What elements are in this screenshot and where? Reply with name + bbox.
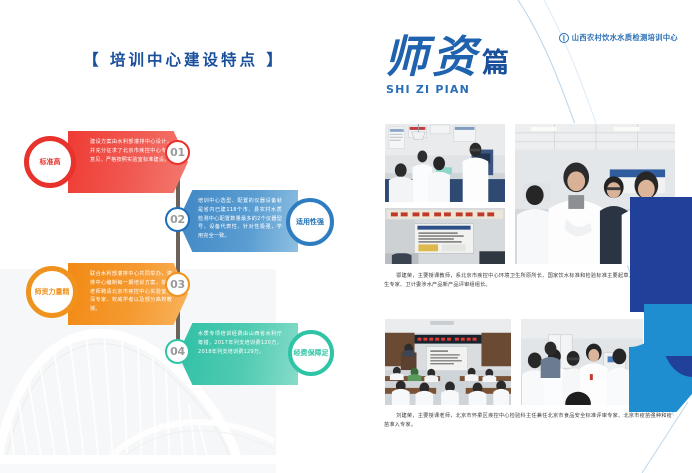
brochure-page: 【 培训中心建设特点 】 建设方案由水利部灌排中心设计，并充分征求了北京市疾控中… <box>0 0 692 473</box>
section-title-pinyin: SHI ZI PIAN <box>386 83 510 96</box>
feature-badge-03: 师资力量精 <box>26 266 78 318</box>
timeline-number-02: 02 <box>165 207 190 232</box>
decorative-blue-rect-2 <box>644 304 692 356</box>
section-title-cursive: 师资 <box>384 36 480 80</box>
photo-lab-instruction <box>384 123 506 203</box>
feature-banner-02: 培训中心选型、配置的仪器设备就是省内已建118个市、县农村水质检测中心配置数量最… <box>178 190 298 252</box>
timeline-number-01: 01 <box>165 140 190 165</box>
feature-badge-02: 适用性强 <box>286 198 334 246</box>
feature-badge-01: 标准高 <box>24 136 76 188</box>
timeline-number-04: 04 <box>165 339 190 364</box>
feature-text-02: 培训中心选型、配置的仪器设备就是省内已建118个市、县农村水质检测中心配置数量最… <box>198 197 282 241</box>
brand-text: 山西农村饮水水质检测培训中心 <box>572 33 678 43</box>
feature-badge-04: 经费保障足 <box>288 330 334 376</box>
feature-text-01: 建设方案由水利部灌排中心设计，并充分征求了北京市疾控中心专家意见，严格按照实验室… <box>90 138 172 164</box>
photo-classroom-training <box>384 318 512 406</box>
brand-line: 山西农村饮水水质检测培训中心 <box>559 33 678 43</box>
left-infographic-panel: 【 培训中心建设特点 】 建设方案由水利部灌排中心设计，并充分征求了北京市疾控中… <box>0 0 368 473</box>
decorative-blue-corner <box>624 394 692 473</box>
right-content-panel: 山西农村饮水水质检测培训中心 师资 篇 SHI ZI PIAN <box>368 0 692 473</box>
photo-lecture-projector <box>384 207 506 265</box>
timeline-number-03: 03 <box>165 272 190 297</box>
water-drop-circle-icon <box>559 33 569 43</box>
section-title-block: 篇 <box>482 41 510 80</box>
feature-text-03: 联合水利部灌排中心共同举办，灌排中心编制每一期培训方案，授课老师聘请北京市疾控中… <box>90 270 172 314</box>
section-heading: 师资 篇 SHI ZI PIAN <box>384 36 510 96</box>
feature-banner-04: 水质专项培训经费由山西省水利厅筹措，2017年列支培训费120万，2018年列支… <box>178 323 298 385</box>
left-panel-title: 【 培训中心建设特点 】 <box>0 48 368 70</box>
feature-text-04: 水质专项培训经费由山西省水利厅筹措，2017年列支培训费120万，2018年列支… <box>198 330 282 356</box>
